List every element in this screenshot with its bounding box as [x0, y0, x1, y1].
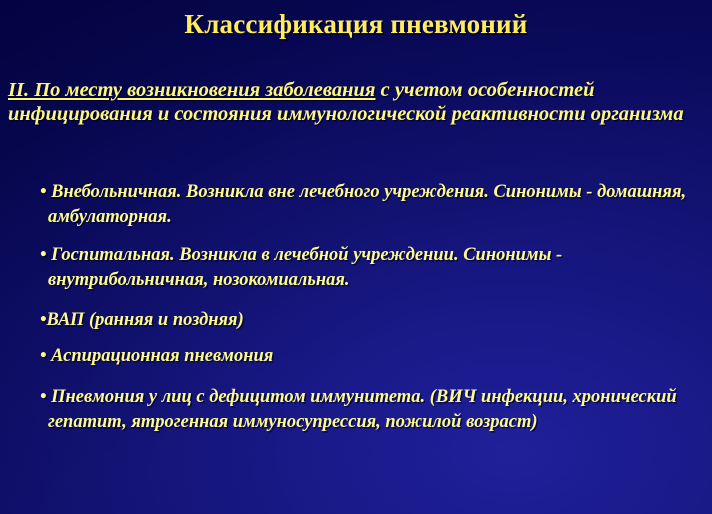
list-item: • Внебольничная. Возникла вне лечебного … [40, 180, 705, 230]
intro-paragraph: II. По месту возникновения заболевания с… [8, 78, 708, 126]
slide-canvas: Классификация пневмоний II. По месту воз… [0, 0, 712, 514]
bullet-list: • Внебольничная. Возникла вне лечебного … [40, 180, 705, 448]
list-item-label: ВАП (ранняя и поздняя) [46, 310, 243, 330]
list-item: • Пневмония у лиц с дефицитом иммунитета… [40, 385, 705, 435]
list-item: •ВАП (ранняя и поздняя) [40, 308, 705, 333]
list-item-label: Аспирационная пневмония [46, 346, 273, 366]
list-item: • Госпитальная. Возникла в лечебной учре… [40, 243, 705, 293]
list-item-label: Внебольничная. Возникла вне лечебного уч… [46, 182, 686, 227]
list-item: • Аспирационная пневмония [40, 344, 705, 369]
slide-title: Классификация пневмоний [0, 9, 712, 40]
list-item-label: Пневмония у лиц с дефицитом иммунитета. … [46, 387, 676, 432]
intro-underlined-heading: II. По месту возникновения заболевания [8, 79, 375, 101]
list-item-label: Госпитальная. Возникла в лечебной учрежд… [46, 245, 562, 290]
intro-paragraph-block: II. По месту возникновения заболевания с… [8, 78, 708, 126]
